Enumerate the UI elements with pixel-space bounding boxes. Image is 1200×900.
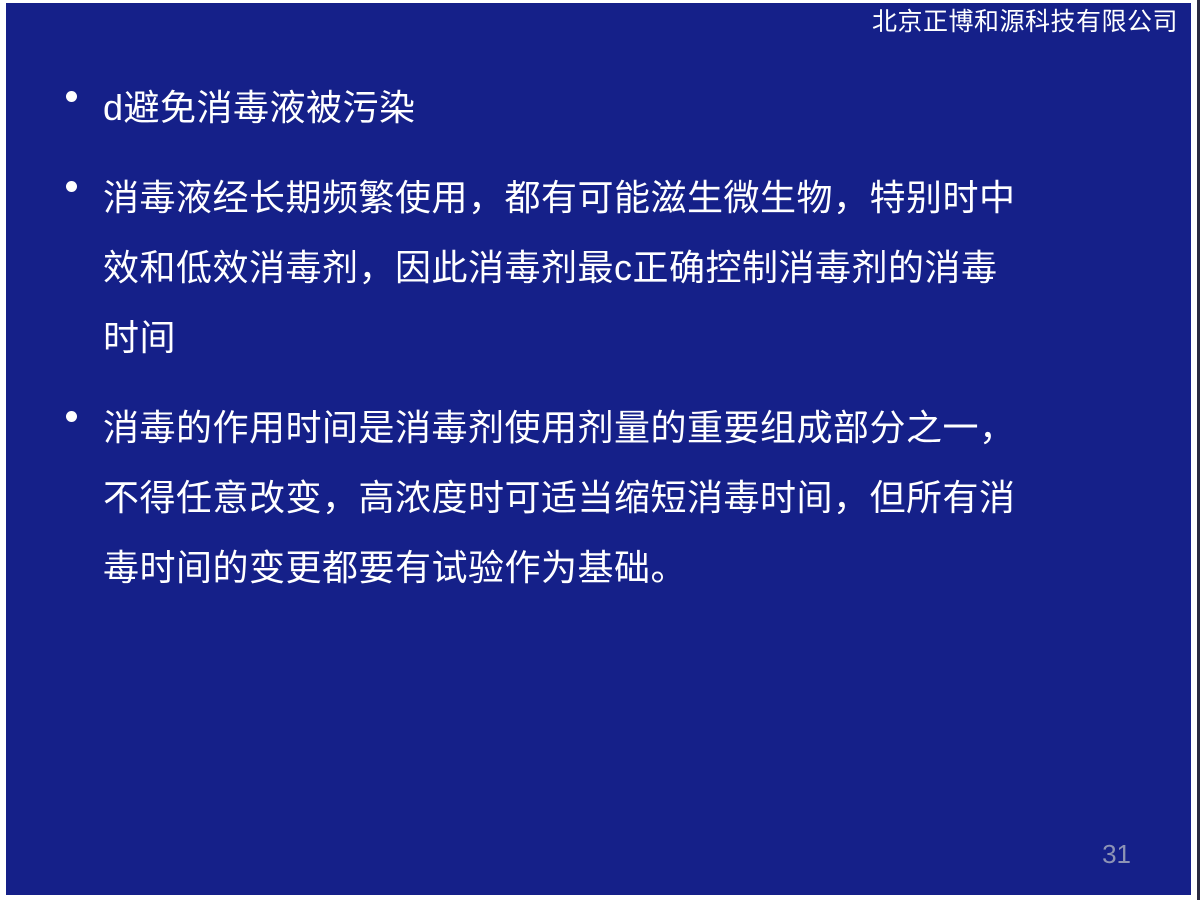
bullet-line: 毒时间的变更都要有试验作为基础。 xyxy=(103,533,1191,603)
list-item: 消毒的作用时间是消毒剂使用剂量的重要组成部分之一， 不得任意改变，高浓度时可适当… xyxy=(6,393,1191,603)
list-item: 消毒液经长期频繁使用，都有可能滋生微生物，特别时中 效和低效消毒剂，因此消毒剂最… xyxy=(6,163,1191,373)
slide-header-company-name: 北京正博和源科技有限公司 xyxy=(872,7,1178,37)
bullet-text-block: 消毒的作用时间是消毒剂使用剂量的重要组成部分之一， 不得任意改变，高浓度时可适当… xyxy=(103,393,1191,603)
bullet-line: 消毒液经长期频繁使用，都有可能滋生微生物，特别时中 xyxy=(103,163,1191,233)
list-item: d避免消毒液被污染 xyxy=(6,73,1191,143)
bullet-line: 不得任意改变，高浓度时可适当缩短消毒时间，但所有消 xyxy=(103,463,1191,533)
bullet-line: d避免消毒液被污染 xyxy=(103,73,1191,143)
bullet-line: 时间 xyxy=(103,303,1191,373)
bullet-text-block: d避免消毒液被污染 xyxy=(103,73,1191,143)
bullet-line: 效和低效消毒剂，因此消毒剂最c正确控制消毒剂的消毒 xyxy=(103,233,1191,303)
bullet-dot-icon xyxy=(66,181,77,192)
page-number: 31 xyxy=(1102,839,1131,869)
slide-frame: 北京正博和源科技有限公司 d避免消毒液被污染 消毒液经长期频繁使用，都有可能滋生… xyxy=(0,0,1200,900)
bullet-text-block: 消毒液经长期频繁使用，都有可能滋生微生物，特别时中 效和低效消毒剂，因此消毒剂最… xyxy=(103,163,1191,373)
bullet-dot-icon xyxy=(66,411,77,422)
bullet-line: 消毒的作用时间是消毒剂使用剂量的重要组成部分之一， xyxy=(103,393,1191,463)
slide-body: d避免消毒液被污染 消毒液经长期频繁使用，都有可能滋生微生物，特别时中 效和低效… xyxy=(6,73,1191,603)
presentation-slide: 北京正博和源科技有限公司 d避免消毒液被污染 消毒液经长期频繁使用，都有可能滋生… xyxy=(6,3,1191,895)
bullet-dot-icon xyxy=(66,91,77,102)
